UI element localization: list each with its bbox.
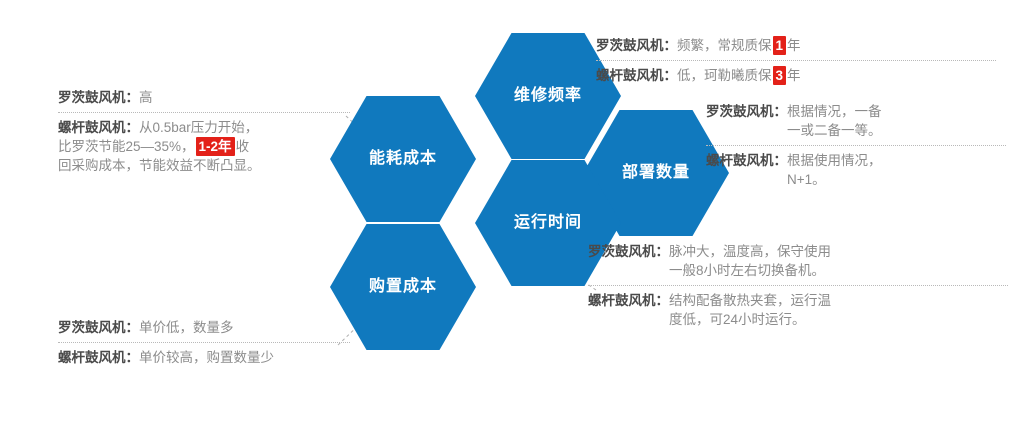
annotation-energy-screw-line3: 回采购成本，节能效益不断凸显。 xyxy=(58,156,261,175)
annotation-runtime-roots-line1: 脉冲大，温度高，保守使用 xyxy=(669,242,831,261)
annotation-purchase-roots-value: 单价低，数量多 xyxy=(139,318,234,337)
annotation-runtime-screw-value: 结构配备散热夹套，运行温 度低，可24小时运行。 xyxy=(669,291,831,329)
annotation-energy-screw-row3: 回采购成本，节能效益不断凸显。 xyxy=(58,156,350,175)
annotation-deploy-screw-value: 根据使用情况， N+1。 xyxy=(787,151,882,189)
annotation-deploy-roots-line1: 根据情况，一备 xyxy=(787,102,882,121)
annotation-runtime-roots-value: 脉冲大，温度高，保守使用 一般8小时左右切换备机。 xyxy=(669,242,831,280)
annotation-energy-roots-key: 罗茨鼓风机： xyxy=(58,88,139,107)
annotation-runtime-screw-key: 螺杆鼓风机： xyxy=(588,291,669,329)
annotation-maintenance-frequency: 罗茨鼓风机： 频繁，常规质保 1 年 螺杆鼓风机： 低，珂勒曦质保 3 年 xyxy=(596,36,996,85)
hexagon-label-maintenance-frequency: 维修频率 xyxy=(514,88,582,104)
annotation-runtime-screw-row: 螺杆鼓风机： 结构配备散热夹套，运行温 度低，可24小时运行。 xyxy=(588,291,1008,329)
annotation-energy-screw-value: 从0.5bar压力开始， xyxy=(139,118,258,137)
annotation-energy-screw-row: 螺杆鼓风机： 从0.5bar压力开始， xyxy=(58,118,350,137)
hexagon-energy-cost[interactable]: 能耗成本 xyxy=(330,96,476,222)
annotation-energy-screw-line2a: 比罗茨节能25—35%， xyxy=(58,137,195,156)
annotation-maint-roots-key: 罗茨鼓风机： xyxy=(596,36,677,55)
annotation-deploy-screw-row: 螺杆鼓风机： 根据使用情况， N+1。 xyxy=(706,151,1006,189)
annotation-deploy-roots-row: 罗茨鼓风机： 根据情况，一备 一或二备一等。 xyxy=(706,102,1006,140)
annotation-maint-divider xyxy=(596,60,996,61)
annotation-runtime-screw-line2: 度低，可24小时运行。 xyxy=(669,310,831,329)
annotation-purchase-screw-value: 单价较高，购置数量少 xyxy=(139,348,274,367)
annotation-energy-screw-row2: 比罗茨节能25—35%， 1-2年 收 xyxy=(58,137,350,156)
annotation-energy-screw-line1: 从0.5bar压力开始， xyxy=(139,118,258,137)
annotation-purchase-roots-row: 罗茨鼓风机： 单价低，数量多 xyxy=(58,318,350,337)
annotation-runtime-screw-line1: 结构配备散热夹套，运行温 xyxy=(669,291,831,310)
infographic-canvas: 能耗成本 维修频率 部署数量 运行时间 购置成本 罗茨鼓风机： 高 螺杆鼓风机：… xyxy=(0,0,1014,436)
hexagon-purchase-cost[interactable]: 购置成本 xyxy=(330,224,476,350)
annotation-deploy-screw-line2: N+1。 xyxy=(787,170,882,189)
annotation-energy-screw-key: 螺杆鼓风机： xyxy=(58,118,139,137)
annotation-runtime-roots-line2: 一般8小时左右切换备机。 xyxy=(669,261,831,280)
annotation-runtime-roots-key: 罗茨鼓风机： xyxy=(588,242,669,280)
annotation-energy-divider xyxy=(58,112,350,113)
annotation-deploy-roots-key: 罗茨鼓风机： xyxy=(706,102,787,140)
annotation-purchase-roots-key: 罗茨鼓风机： xyxy=(58,318,139,337)
annotation-deploy-roots-value: 根据情况，一备 一或二备一等。 xyxy=(787,102,882,140)
annotation-deploy-screw-line1: 根据使用情况， xyxy=(787,151,882,170)
annotation-purchase-screw-row: 螺杆鼓风机： 单价较高，购置数量少 xyxy=(58,348,350,367)
annotation-maint-screw-key: 螺杆鼓风机： xyxy=(596,66,677,85)
hexagon-label-energy-cost: 能耗成本 xyxy=(369,151,437,167)
annotation-deploy-divider xyxy=(706,145,1006,146)
hexagon-label-deployment-count: 部署数量 xyxy=(622,165,690,181)
annotation-deploy-screw-key: 螺杆鼓风机： xyxy=(706,151,787,189)
annotation-maint-roots-pre: 频繁，常规质保 xyxy=(677,36,772,55)
annotation-energy-roots-row: 罗茨鼓风机： 高 xyxy=(58,88,350,107)
annotation-maint-roots-row: 罗茨鼓风机： 频繁，常规质保 1 年 xyxy=(596,36,996,55)
annotation-energy-cost: 罗茨鼓风机： 高 螺杆鼓风机： 从0.5bar压力开始， 比罗茨节能25—35%… xyxy=(58,88,350,175)
annotation-maint-roots-post: 年 xyxy=(787,36,801,55)
annotation-energy-roots-value: 高 xyxy=(139,88,153,107)
annotation-maint-screw-post: 年 xyxy=(787,66,801,85)
hexagon-label-purchase-cost: 购置成本 xyxy=(369,279,437,295)
annotation-purchase-screw-key: 螺杆鼓风机： xyxy=(58,348,139,367)
annotation-deploy-roots-line2: 一或二备一等。 xyxy=(787,121,882,140)
annotation-runtime-divider xyxy=(588,285,1008,286)
annotation-runtime: 罗茨鼓风机： 脉冲大，温度高，保守使用 一般8小时左右切换备机。 螺杆鼓风机： … xyxy=(588,242,1008,329)
annotation-maint-screw-highlight: 3 xyxy=(773,66,787,85)
annotation-purchase-divider xyxy=(58,342,350,343)
annotation-energy-screw-line2b: 收 xyxy=(236,137,250,156)
annotation-purchase-cost: 罗茨鼓风机： 单价低，数量多 螺杆鼓风机： 单价较高，购置数量少 xyxy=(58,318,350,367)
annotation-runtime-roots-row: 罗茨鼓风机： 脉冲大，温度高，保守使用 一般8小时左右切换备机。 xyxy=(588,242,1008,280)
annotation-maint-screw-row: 螺杆鼓风机： 低，珂勒曦质保 3 年 xyxy=(596,66,996,85)
annotation-energy-screw-highlight: 1-2年 xyxy=(196,137,235,156)
annotation-deployment-count: 罗茨鼓风机： 根据情况，一备 一或二备一等。 螺杆鼓风机： 根据使用情况， N+… xyxy=(706,102,1006,189)
hexagon-label-runtime: 运行时间 xyxy=(514,215,582,231)
annotation-maint-roots-highlight: 1 xyxy=(773,36,787,55)
annotation-maint-screw-pre: 低，珂勒曦质保 xyxy=(677,66,772,85)
